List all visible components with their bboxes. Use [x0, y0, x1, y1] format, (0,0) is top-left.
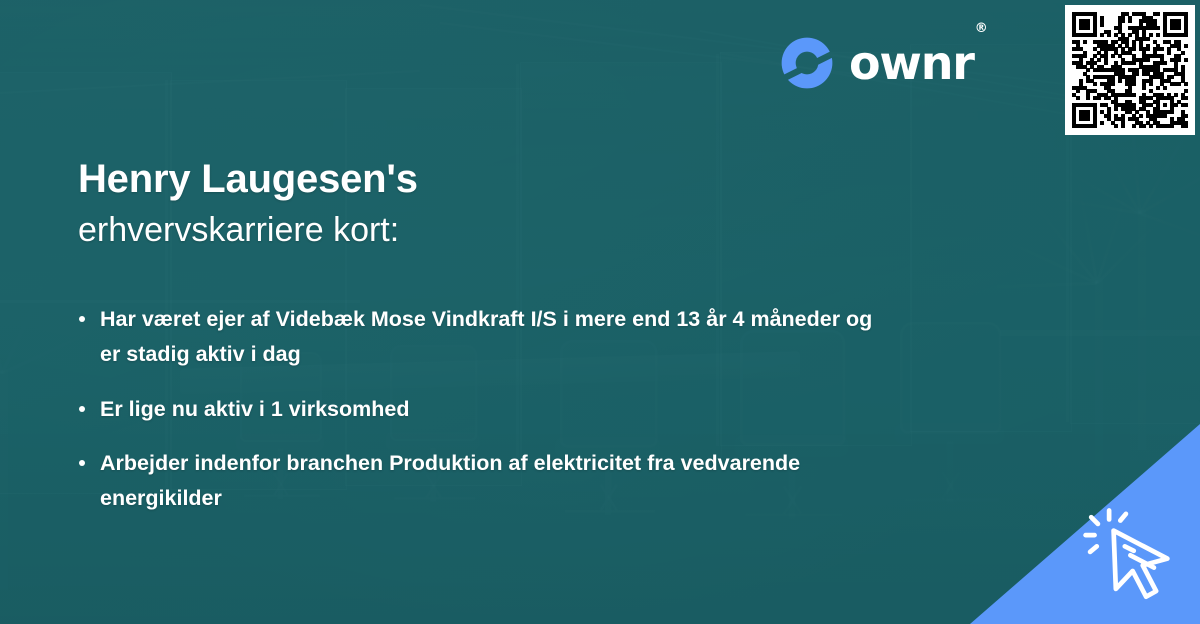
list-item: Arbejder indenfor branchen Produktion af…	[78, 446, 878, 516]
click-cursor-icon	[1080, 506, 1192, 618]
page-title: Henry Laugesen's	[78, 158, 418, 200]
qr-code[interactable]	[1065, 5, 1195, 135]
qr-code-canvas	[1065, 5, 1195, 135]
list-item: Har været ejer af Videbæk Mose Vindkraft…	[78, 302, 878, 372]
ownr-wordmark: ownr®	[849, 40, 987, 86]
page-subtitle: erhvervskarriere kort:	[78, 212, 399, 249]
ownr-logo[interactable]: ownr®	[778, 34, 987, 92]
ownr-wordmark-text: ownr	[849, 36, 974, 90]
card-content: ownr® Henry Laugesen's erhvervskarriere …	[0, 0, 1200, 624]
career-facts-list: Har været ejer af Videbæk Mose Vindkraft…	[78, 302, 878, 536]
registered-trademark-symbol: ®	[975, 21, 988, 36]
ownr-circular-swirl-logo-icon	[778, 34, 836, 92]
list-item: Er lige nu aktiv i 1 virksomhed	[78, 392, 878, 427]
promo-card: ownr® Henry Laugesen's erhvervskarriere …	[0, 0, 1200, 624]
